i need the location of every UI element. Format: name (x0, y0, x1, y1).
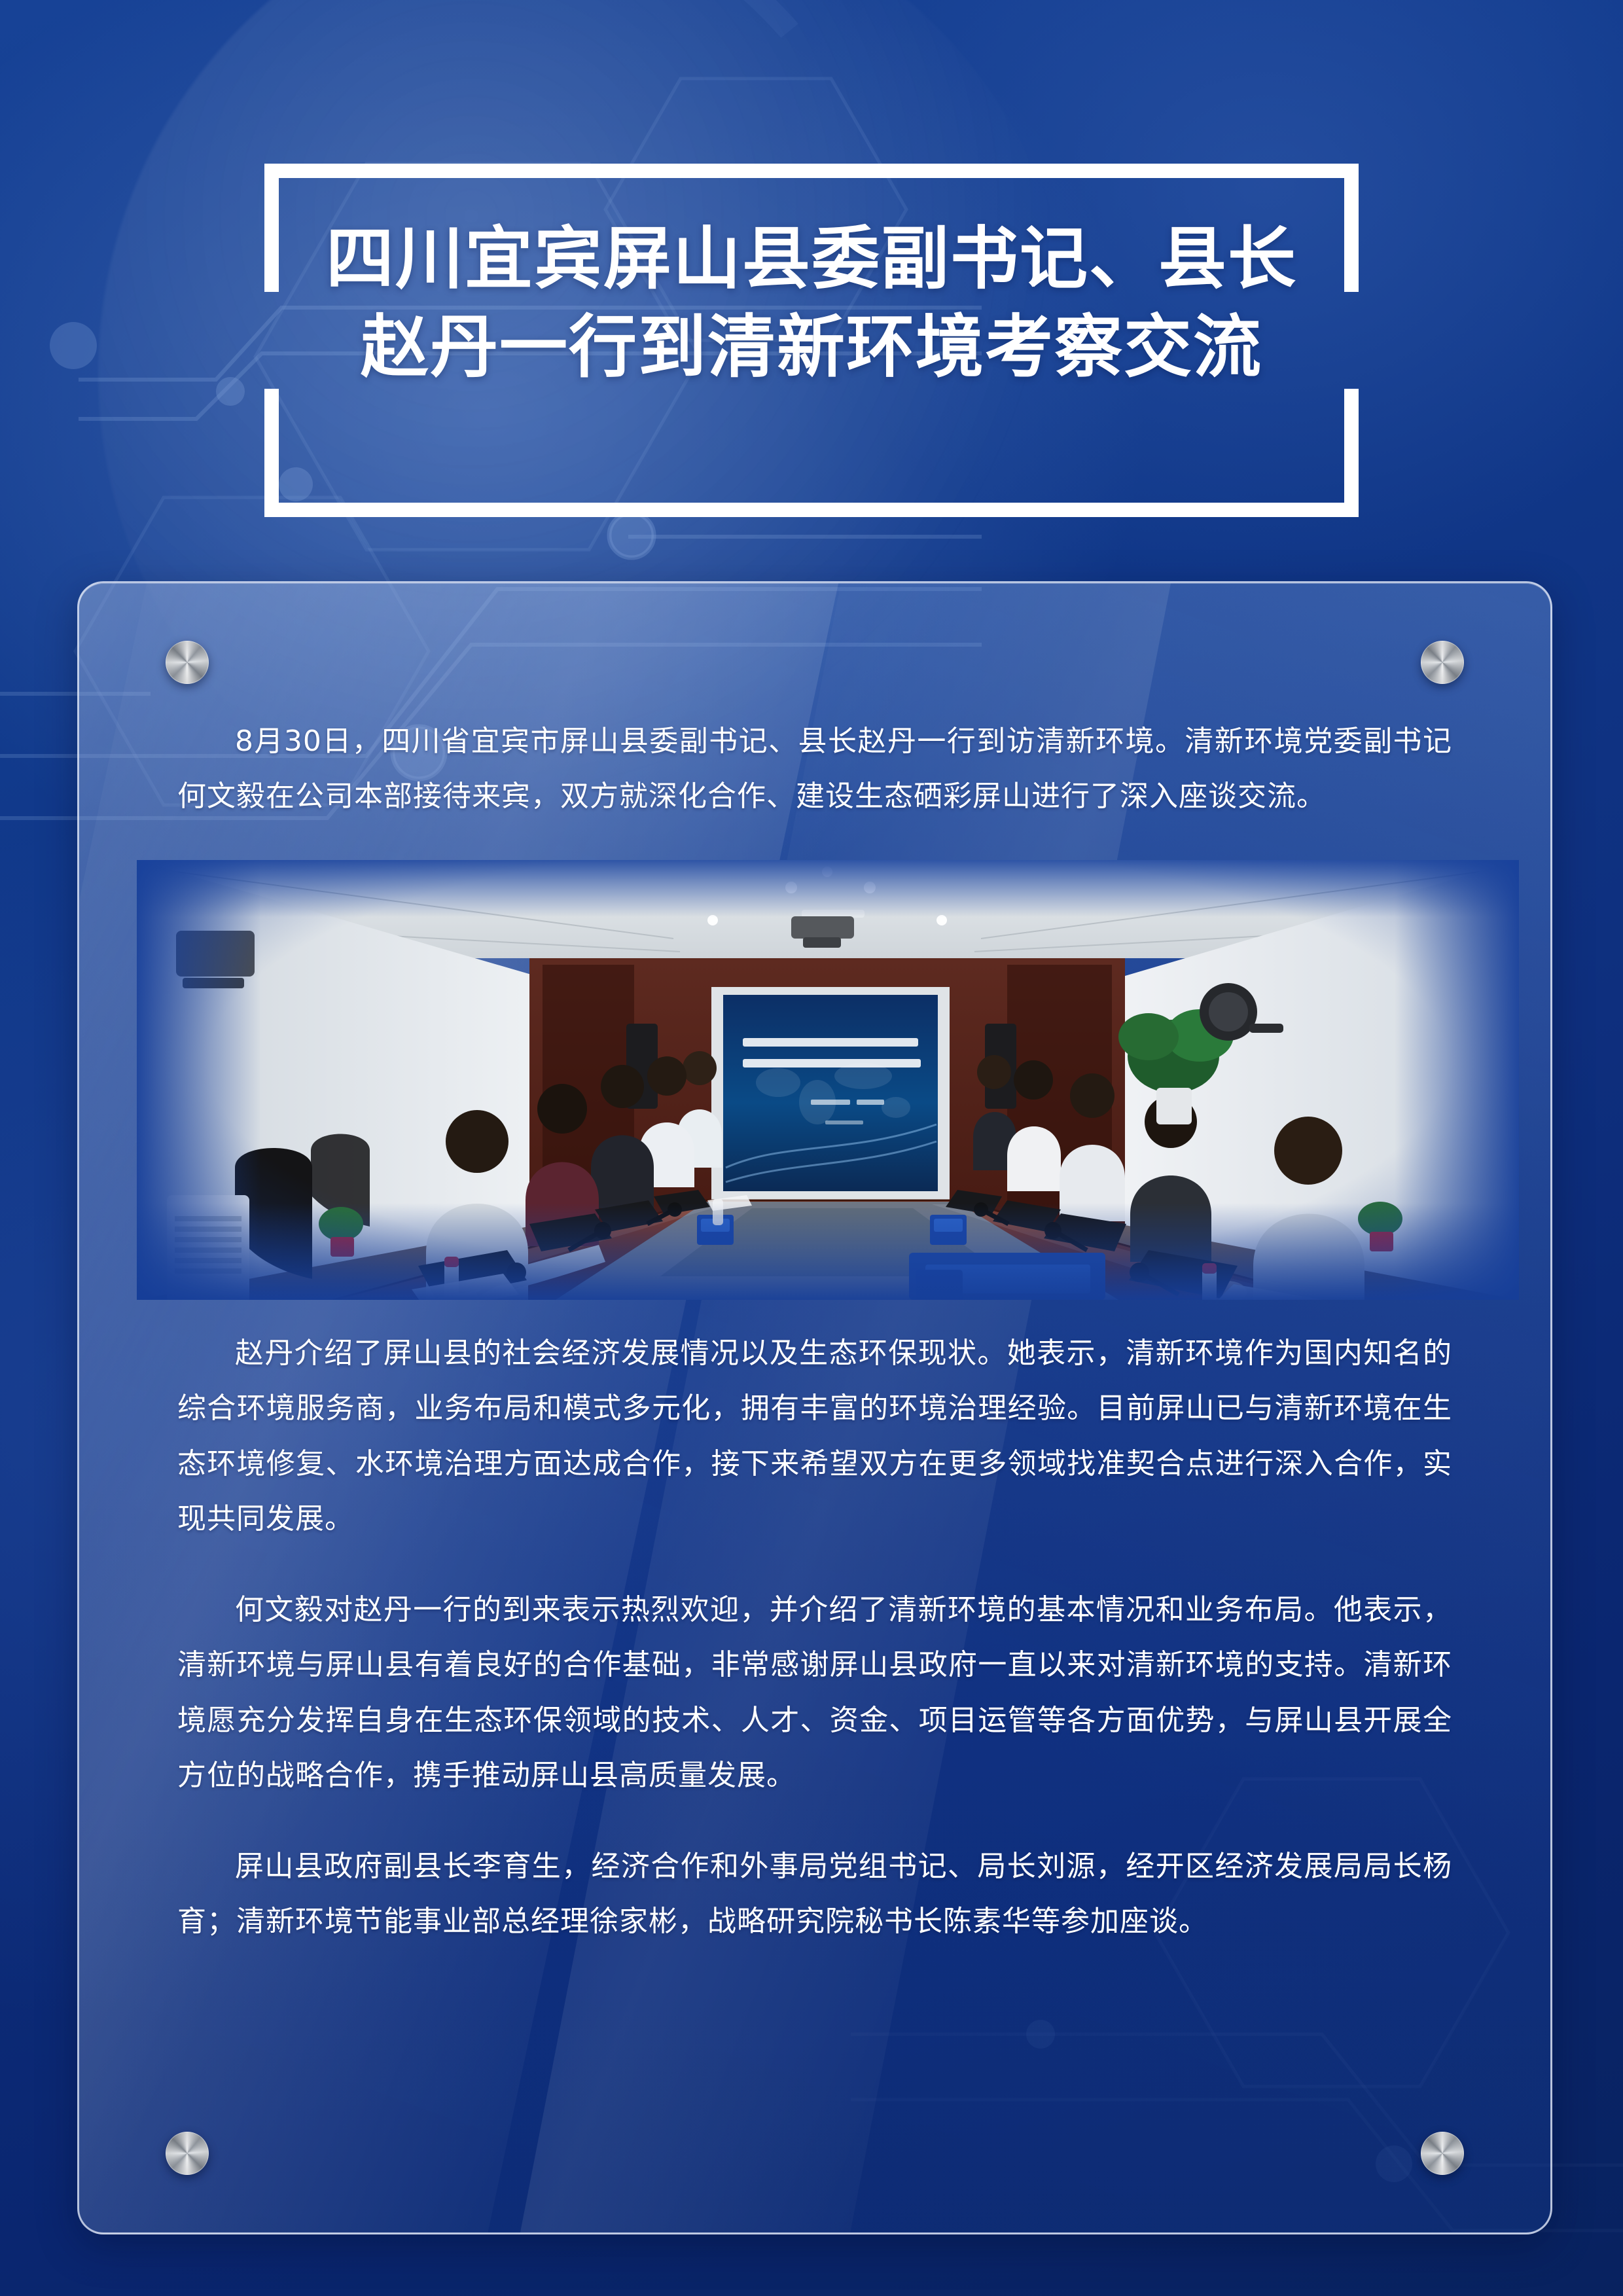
title-zone: 四川宜宾屏山县委副书记、县长 赵丹一行到清新环境考察交流 (0, 137, 1623, 543)
page-title: 四川宜宾屏山县委副书记、县长 赵丹一行到清新环境考察交流 (0, 215, 1623, 391)
screw-top-left-icon (166, 641, 209, 684)
screw-bottom-right-icon (1421, 2132, 1464, 2175)
bracket-bottom-right-leg (1344, 389, 1359, 517)
meeting-photo-image (137, 860, 1519, 1300)
article-body: 8月30日，四川省宜宾市屏山县委副书记、县长赵丹一行到访清新环境。清新环境党委副… (177, 714, 1452, 1985)
poster-page: 四川宜宾屏山县委副书记、县长 赵丹一行到清新环境考察交流 8月30日，四川省宜宾… (0, 0, 1623, 2296)
screw-top-right-icon (1421, 641, 1464, 684)
screw-bottom-left-icon (166, 2132, 209, 2175)
bracket-bottom-left-leg (264, 389, 279, 517)
article-paragraph-3: 何文毅对赵丹一行的到来表示热烈欢迎，并介绍了清新环境的基本情况和业务布局。他表示… (177, 1583, 1452, 1804)
bracket-top-bar (264, 164, 1359, 178)
article-card: 8月30日，四川省宜宾市屏山县委副书记、县长赵丹一行到访清新环境。清新环境党委副… (77, 581, 1552, 2234)
bracket-bottom-bar (264, 503, 1359, 517)
article-paragraph-1: 8月30日，四川省宜宾市屏山县委副书记、县长赵丹一行到访清新环境。清新环境党委副… (177, 714, 1452, 825)
article-paragraph-2: 赵丹介绍了屏山县的社会经济发展情况以及生态环保现状。她表示，清新环境作为国内知名… (177, 1326, 1452, 1547)
meeting-photo (137, 860, 1519, 1300)
article-paragraph-4: 屏山县政府副县长李育生，经济合作和外事局党组书记、局长刘源，经开区经济发展局局长… (177, 1839, 1452, 1950)
